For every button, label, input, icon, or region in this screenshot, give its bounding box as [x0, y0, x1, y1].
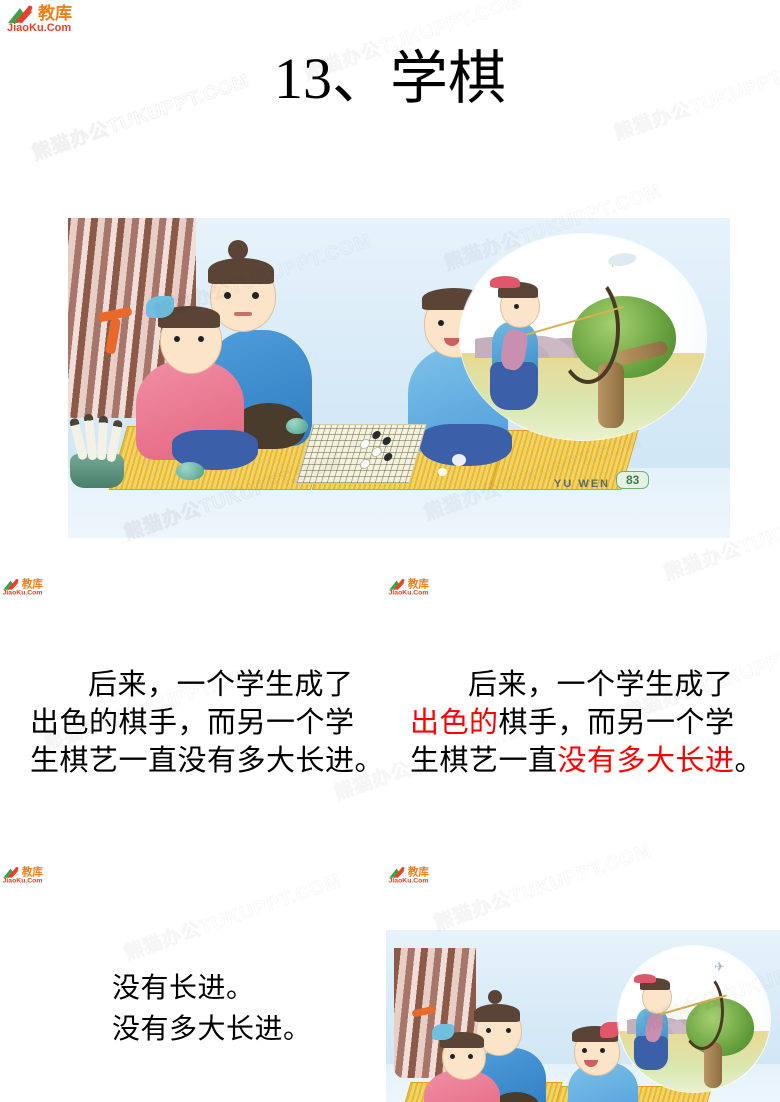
- jiaoku-logo: 教库 JiaoKu.Com: [6, 4, 92, 40]
- paragraph-line-3-pre: 生棋艺一直: [410, 745, 558, 777]
- jiaoku-logo: 教库 JiaoKu.Com: [2, 578, 55, 600]
- page-title: 13、学棋: [0, 44, 780, 114]
- brush-pot: [70, 454, 124, 488]
- student-blue-hair-bow: [600, 1022, 620, 1038]
- jiaoku-logo: 教库 JiaoKu.Com: [388, 866, 441, 888]
- teacher-eye: [486, 1028, 491, 1033]
- textbook-page-badge: 83: [616, 471, 649, 489]
- teacher-eye: [252, 292, 259, 299]
- sentence-long: 没有多大长进。: [112, 1014, 312, 1045]
- go-bowl: [176, 462, 204, 480]
- thought-bubble-archer: ✈: [618, 946, 770, 1092]
- student-pink-hair-bow: [432, 1024, 454, 1040]
- jiaoku-logo-domain: JiaoKu.Com: [3, 877, 43, 884]
- teacher-eye: [506, 1028, 511, 1033]
- teacher-eye: [224, 292, 231, 299]
- teacher-hair: [474, 1004, 520, 1022]
- paragraph-highlighted: 后来，一个学生成了 出色的棋手，而另一个学 生棋艺一直没有多大长进。: [410, 666, 775, 780]
- paragraph-line-3-post: 。: [735, 745, 765, 777]
- paragraph-line-2-rest: 棋手，而另一个学: [499, 707, 735, 739]
- jiaoku-logo-domain: JiaoKu.Com: [7, 22, 71, 34]
- bubble-trail-dot: [438, 468, 447, 476]
- student-blue-eye: [438, 320, 444, 326]
- paragraph-line-3: 生棋艺一直没有多大长进。: [30, 745, 384, 777]
- comparison-sentences: 没有长进。 没有多大长进。: [112, 968, 412, 1050]
- archer-eye: [514, 304, 519, 309]
- watermark-text: 熊猫办公TUKUPPT.COM: [120, 866, 345, 966]
- jiaoku-logo-domain: JiaoKu.Com: [389, 877, 429, 884]
- paragraph-line-1: 后来，一个学生成了: [88, 669, 354, 701]
- teacher-mouth: [234, 312, 252, 316]
- student-blue-legs: [420, 424, 512, 466]
- thought-bubble-archer: ✈: [460, 234, 706, 440]
- highlight-chuse-de: 出色的: [410, 707, 499, 739]
- jiaoku-logo-han: 教库: [38, 4, 72, 24]
- teacher-hair-bun: [488, 990, 502, 1004]
- paragraph-line-1: 后来，一个学生成了: [468, 669, 734, 701]
- student-pink-eye: [174, 336, 180, 342]
- paragraph-line-2: 出色的棋手，而另一个学: [30, 707, 355, 739]
- go-stone-black: [383, 453, 393, 461]
- swan-bird-icon: ✈: [714, 960, 725, 973]
- jiaoku-logo-domain: JiaoKu.Com: [389, 589, 429, 596]
- jiaoku-logo: 教库 JiaoKu.Com: [388, 578, 441, 600]
- sentence-short: 没有长进。: [112, 973, 255, 1004]
- jiaoku-logo-domain: JiaoKu.Com: [3, 589, 43, 596]
- student-pink-eye: [468, 1054, 473, 1059]
- go-stone-white: [370, 447, 383, 457]
- archer-hat: [490, 276, 520, 288]
- student-pink-hair-bow: [146, 296, 174, 318]
- paragraph-plain: 后来，一个学生成了 出色的棋手，而另一个学 生棋艺一直没有多大长进。: [30, 666, 390, 780]
- textbook-subject-label: YU WEN: [554, 478, 610, 490]
- watermark-text: 熊猫办公TUKUPPT.COM: [430, 836, 655, 936]
- go-stone-white: [359, 459, 372, 469]
- archer-hat: [634, 974, 656, 983]
- student-blue-eye: [600, 1048, 605, 1053]
- bubble-trail-dot: [452, 454, 466, 466]
- go-board: [295, 424, 426, 484]
- go-stone-white: [358, 439, 371, 449]
- go-bowl: [286, 418, 308, 434]
- teacher-hair-bun: [228, 240, 248, 260]
- highlight-meiyou-duoda-zhangjin: 没有多大长进: [558, 745, 735, 777]
- go-stone-black: [371, 431, 381, 439]
- jiaoku-logo: 教库 JiaoKu.Com: [2, 866, 55, 888]
- student-pink-eye: [450, 1054, 455, 1059]
- student-blue-eye: [582, 1048, 587, 1053]
- archer-bow: [556, 274, 620, 384]
- lesson-illustration-bottom: ✈: [386, 930, 780, 1102]
- swan-silhouette: [599, 247, 645, 269]
- archer-bow: [680, 972, 724, 1050]
- go-stone-black: [382, 437, 392, 445]
- student-pink-eye: [198, 336, 204, 342]
- teacher-hair: [208, 258, 274, 284]
- lesson-illustration-main: ✈ YU WEN 83: [68, 218, 730, 538]
